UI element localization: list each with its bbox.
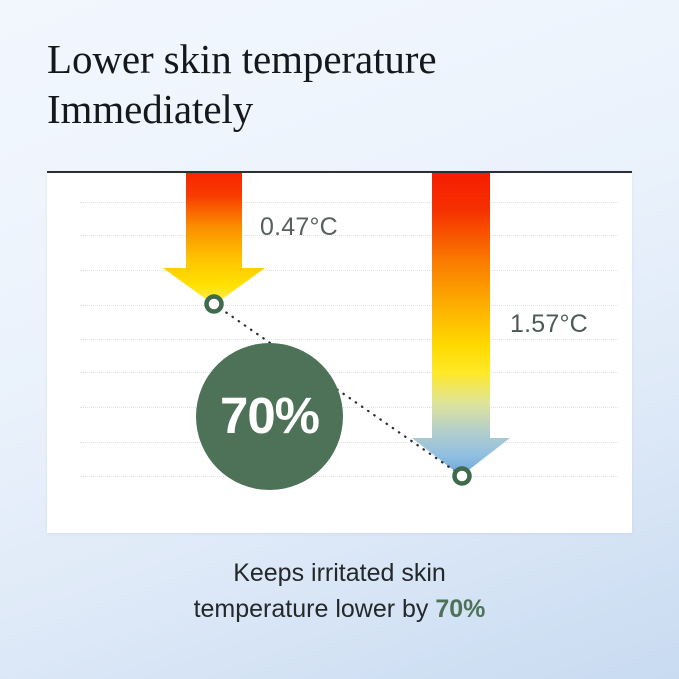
- caption-line-1: Keeps irritated skin: [0, 556, 679, 592]
- chart-panel: 0.47°C 1.57°C 70%: [47, 171, 632, 533]
- caption-highlight: 70%: [435, 595, 485, 623]
- value-label-left: 0.47°C: [260, 213, 338, 242]
- percentage-badge: 70%: [196, 343, 343, 490]
- value-label-right: 1.57°C: [510, 310, 588, 339]
- arrow-left-shape: [163, 171, 265, 305]
- caption-line-2-prefix: temperature lower by: [194, 595, 436, 623]
- infographic-page: Lower skin temperature Immediately: [0, 0, 679, 679]
- endpoint-marker-right: [455, 469, 470, 484]
- caption: Keeps irritated skin temperature lower b…: [0, 556, 679, 627]
- endpoint-marker-left: [207, 297, 222, 312]
- arrow-right-shape: [412, 171, 510, 476]
- page-title: Lower skin temperature Immediately: [47, 34, 627, 134]
- caption-line-2: temperature lower by 70%: [0, 592, 679, 628]
- chart-arrows: [47, 173, 632, 533]
- percentage-badge-value: 70%: [220, 390, 319, 441]
